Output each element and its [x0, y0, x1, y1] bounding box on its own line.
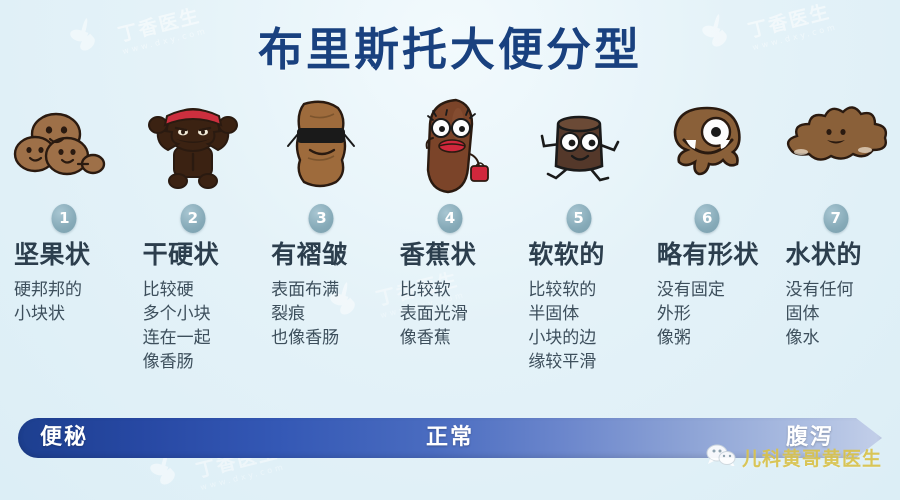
- wechat-signature: 儿科黄哥黄医生: [706, 444, 882, 471]
- type-desc-3: 表面布满 裂痕 也像香肠: [257, 278, 386, 350]
- type-badge-2: 2: [180, 204, 205, 233]
- type-desc-line: 像香蕉: [400, 326, 515, 350]
- type-desc-line: 表面布满: [271, 278, 386, 302]
- lady-banana-icon: [386, 92, 515, 200]
- type-desc-line: 比较软的: [528, 278, 643, 302]
- type-heading-2: 干硬状: [129, 240, 258, 270]
- type-badge-7: 7: [823, 204, 848, 233]
- type-desc-line: 比较硬: [143, 278, 258, 302]
- muscle-man-icon: [129, 92, 258, 200]
- type-heading-1: 坚果状: [0, 240, 129, 270]
- type-badge-4: 4: [438, 204, 463, 233]
- stool-type-column-1: 1 坚果状 硬邦邦的 小块状: [0, 92, 129, 402]
- amoeba-blob-icon: [643, 92, 772, 200]
- type-badge-1: 1: [52, 204, 77, 233]
- type-badge-3: 3: [309, 204, 334, 233]
- stool-type-column-7: 7 水状的 没有任何 固体 像水: [771, 92, 900, 402]
- sunglasses-sausage-icon: [257, 92, 386, 200]
- type-desc-line: 硬邦邦的: [14, 278, 129, 302]
- type-desc-line: 像水: [785, 326, 900, 350]
- type-desc-line: 外形: [657, 302, 772, 326]
- type-desc-line: 没有任何: [785, 278, 900, 302]
- type-desc-1: 硬邦邦的 小块状: [0, 278, 129, 326]
- wechat-account-name: 儿科黄哥黄医生: [742, 444, 882, 471]
- type-desc-4: 比较软 表面光滑 像香蕉: [386, 278, 515, 350]
- type-desc-line: 像粥: [657, 326, 772, 350]
- type-heading-5: 软软的: [514, 240, 643, 270]
- running-blob-icon: [514, 92, 643, 200]
- type-desc-line: 也像香肠: [271, 326, 386, 350]
- type-desc-line: 没有固定: [657, 278, 772, 302]
- type-badge-5: 5: [566, 204, 591, 233]
- type-desc-line: 小块状: [14, 302, 129, 326]
- stool-type-column-4: 4 香蕉状 比较软 表面光滑 像香蕉: [386, 92, 515, 402]
- type-heading-6: 略有形状: [643, 240, 772, 270]
- wechat-icon: [706, 444, 736, 471]
- nut-lumps-icon: [0, 92, 129, 200]
- stool-type-column-3: 3 有褶皱 表面布满 裂痕 也像香肠: [257, 92, 386, 402]
- type-badge-6: 6: [695, 204, 720, 233]
- watermark-sub: www.dxy.com: [199, 462, 286, 492]
- type-desc-2: 比较硬 多个小块 连在一起 像香肠: [129, 278, 258, 374]
- type-heading-3: 有褶皱: [257, 240, 386, 270]
- stool-type-columns: 1 坚果状 硬邦邦的 小块状: [0, 92, 900, 402]
- type-desc-line: 表面光滑: [400, 302, 515, 326]
- type-desc-5: 比较软的 半固体 小块的边 缘较平滑: [514, 278, 643, 374]
- type-desc-line: 小块的边: [528, 326, 643, 350]
- stool-type-column-6: 6 略有形状 没有固定 外形 像粥: [643, 92, 772, 402]
- type-desc-line: 多个小块: [143, 302, 258, 326]
- type-desc-line: 比较软: [400, 278, 515, 302]
- type-desc-line: 连在一起: [143, 326, 258, 350]
- type-desc-6: 没有固定 外形 像粥: [643, 278, 772, 350]
- type-heading-7: 水状的: [771, 240, 900, 270]
- liquid-splatter-icon: [771, 92, 900, 200]
- type-heading-4: 香蕉状: [386, 240, 515, 270]
- type-desc-line: 像香肠: [143, 350, 258, 374]
- stool-type-column-5: 5 软软的 比较软的 半固体 小块的边 缘较平滑: [514, 92, 643, 402]
- page-title: 布里斯托大便分型: [0, 24, 900, 76]
- type-desc-line: 缘较平滑: [528, 350, 643, 374]
- poster-canvas: 丁香医生 www.dxy.com 丁香医生 www.dxy.com 丁香医生 w…: [0, 0, 900, 500]
- type-desc-line: 裂痕: [271, 302, 386, 326]
- stool-type-column-2: 2 干硬状 比较硬 多个小块 连在一起 像香肠: [129, 92, 258, 402]
- type-desc-7: 没有任何 固体 像水: [771, 278, 900, 350]
- type-desc-line: 固体: [785, 302, 900, 326]
- type-desc-line: 半固体: [528, 302, 643, 326]
